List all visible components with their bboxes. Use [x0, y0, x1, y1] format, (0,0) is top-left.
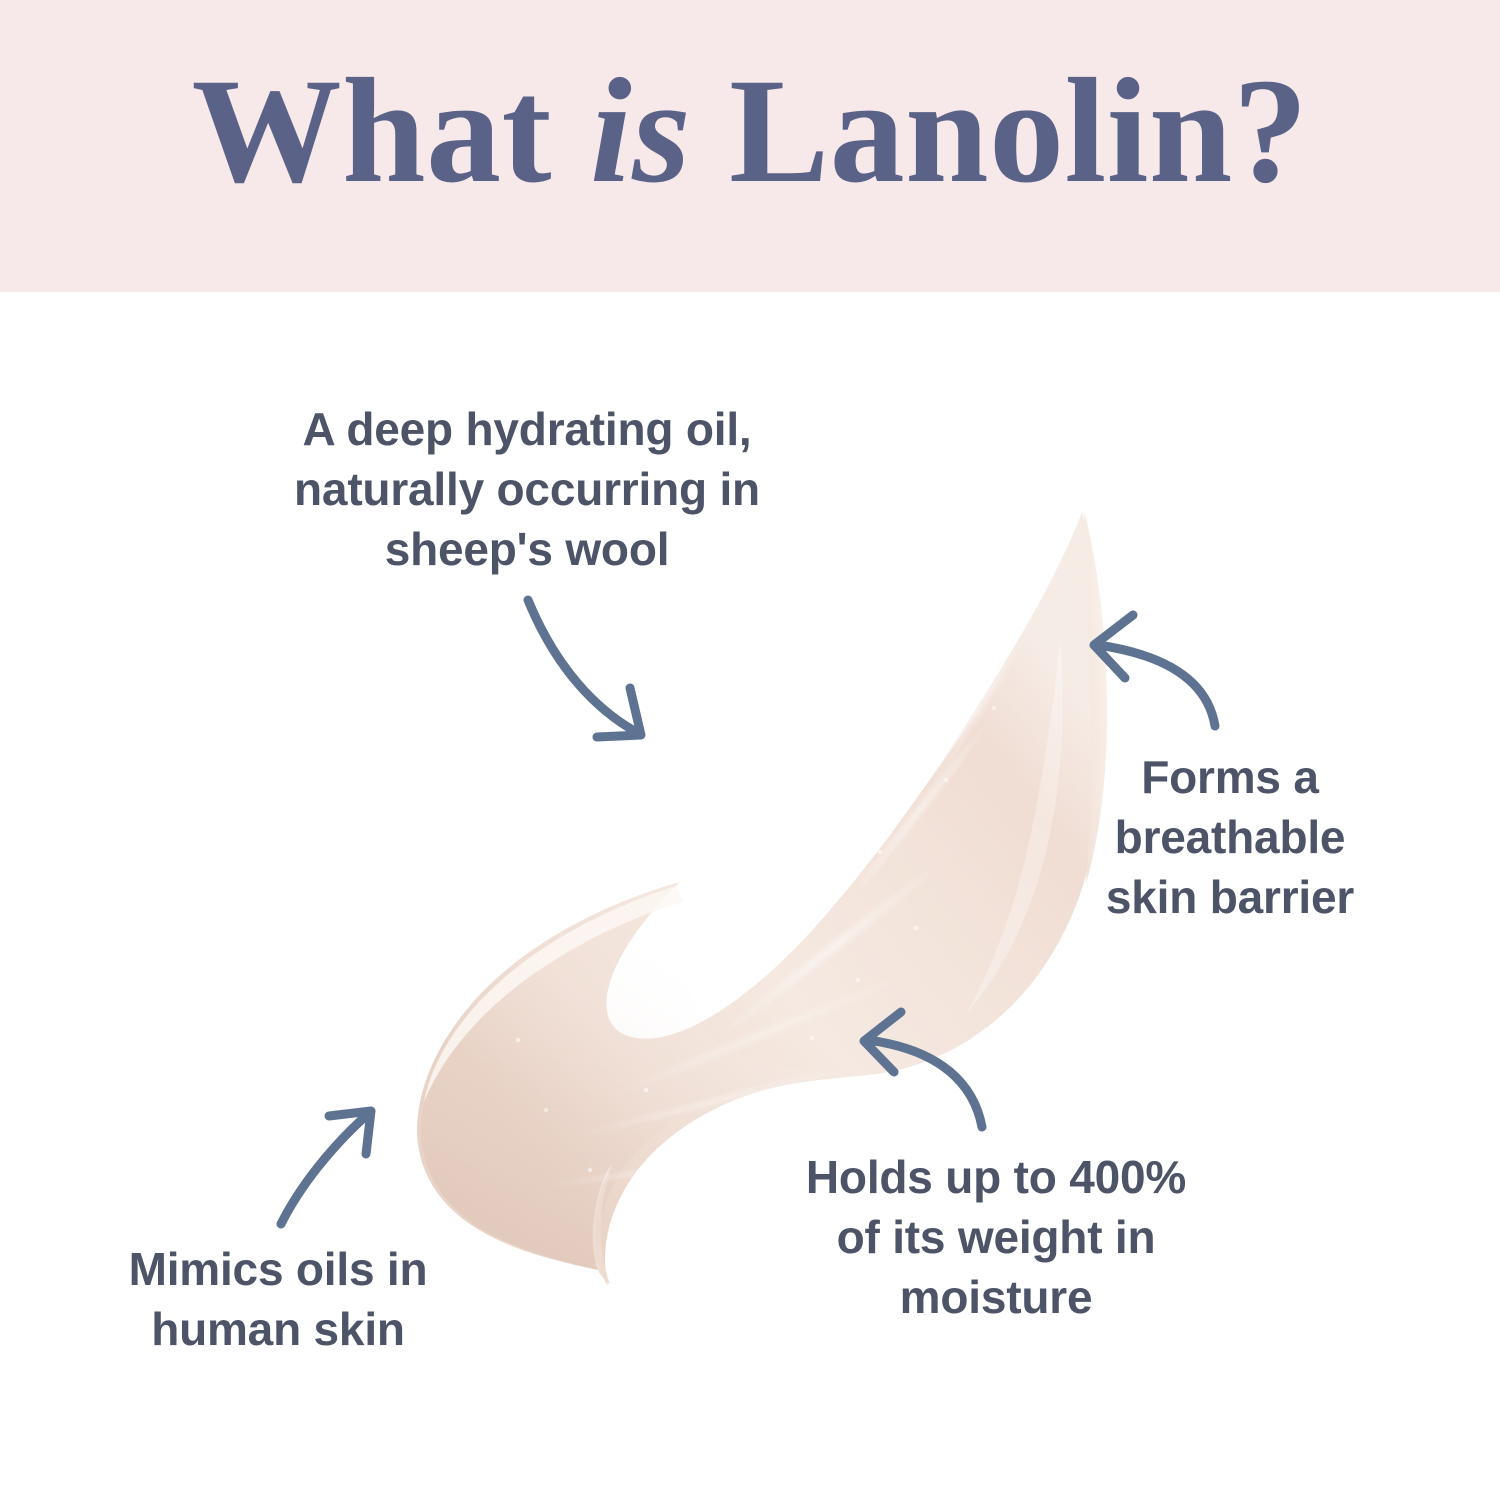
callout-text-barrier: Forms a breathable skin barrier: [1052, 748, 1408, 927]
page-title-emphasis: is: [590, 48, 691, 214]
callout-text-moisture: Holds up to 400% of its weight in moistu…: [726, 1148, 1266, 1327]
curved-arrow-up-right-mimics: [281, 1111, 371, 1224]
callout-text-hydrating: A deep hydrating oil, naturally occurrin…: [228, 400, 826, 579]
infographic-canvas: What is Lanolin?: [0, 0, 1500, 1500]
page-title: What is Lanolin?: [0, 56, 1500, 206]
callout-text-mimics: Mimics oils in human skin: [78, 1240, 478, 1360]
page-title-part2: Lanolin?: [691, 48, 1308, 214]
page-title-part1: What: [192, 48, 590, 214]
